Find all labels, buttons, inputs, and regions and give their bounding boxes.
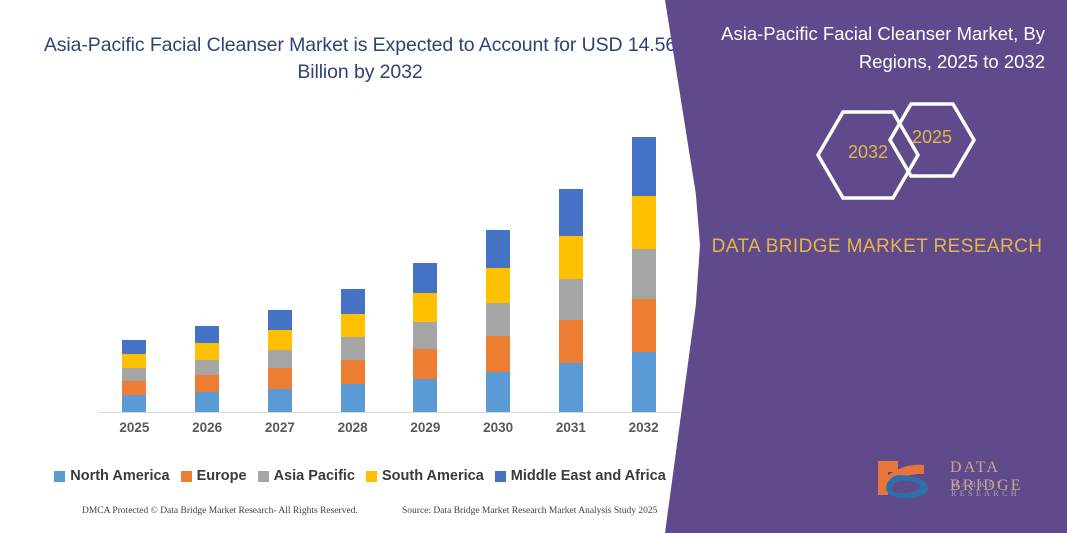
data-bridge-logo: DATA BRIDGE MARKET RESEARCH bbox=[872, 455, 1062, 503]
bar-stack[interactable] bbox=[122, 340, 146, 413]
legend-swatch bbox=[258, 471, 269, 482]
chart-plot-area bbox=[98, 112, 680, 413]
bar-segment[interactable] bbox=[559, 363, 583, 413]
brand-panel: Asia-Pacific Facial Cleanser Market, By … bbox=[660, 0, 1067, 533]
chart-panel: Asia-Pacific Facial Cleanser Market is E… bbox=[0, 0, 720, 533]
bar-segment[interactable] bbox=[195, 375, 219, 392]
bar-segment[interactable] bbox=[341, 384, 365, 413]
brand-content: Asia-Pacific Facial Cleanser Market, By … bbox=[660, 0, 1067, 533]
legend-swatch bbox=[54, 471, 65, 482]
infographic-page: Asia-Pacific Facial Cleanser Market is E… bbox=[0, 0, 1067, 533]
brand-name: DATA BRIDGE MARKET RESEARCH bbox=[707, 232, 1047, 262]
bar-segment[interactable] bbox=[559, 279, 583, 320]
hexagon-label-2025: 2025 bbox=[892, 127, 972, 148]
legend-label: Europe bbox=[197, 468, 247, 484]
legend-item[interactable]: North America bbox=[54, 468, 169, 484]
bar-stack[interactable] bbox=[341, 289, 365, 413]
bar-stack[interactable] bbox=[559, 189, 583, 413]
x-axis-label: 2029 bbox=[390, 420, 460, 435]
bar-segment[interactable] bbox=[486, 372, 510, 413]
x-axis-label: 2031 bbox=[536, 420, 606, 435]
bar-segment[interactable] bbox=[632, 352, 656, 413]
legend-item[interactable]: Asia Pacific bbox=[258, 468, 355, 484]
bar-segment[interactable] bbox=[486, 336, 510, 372]
bar-stack[interactable] bbox=[486, 230, 510, 413]
bar-segment[interactable] bbox=[122, 395, 146, 413]
bar-segment[interactable] bbox=[486, 230, 510, 268]
bar-stack[interactable] bbox=[632, 137, 656, 413]
legend-swatch bbox=[181, 471, 192, 482]
bar-segment[interactable] bbox=[559, 189, 583, 236]
brand-title: Asia-Pacific Facial Cleanser Market, By … bbox=[715, 20, 1045, 76]
bar-segment[interactable] bbox=[268, 368, 292, 389]
hexagon-graphic: 2032 2025 bbox=[810, 98, 1010, 213]
legend-swatch bbox=[366, 471, 377, 482]
bar-stack[interactable] bbox=[268, 310, 292, 413]
footer-source: Source: Data Bridge Market Research Mark… bbox=[402, 506, 657, 516]
chart-legend: North AmericaEuropeAsia PacificSouth Ame… bbox=[0, 468, 720, 484]
legend-item[interactable]: South America bbox=[366, 468, 484, 484]
bar-segment[interactable] bbox=[195, 360, 219, 376]
x-axis-label: 2027 bbox=[245, 420, 315, 435]
db-monogram-icon bbox=[872, 455, 944, 501]
bar-segment[interactable] bbox=[632, 249, 656, 299]
legend-label: Asia Pacific bbox=[274, 468, 355, 484]
x-axis-label: 2028 bbox=[318, 420, 388, 435]
legend-swatch bbox=[495, 471, 506, 482]
bar-segment[interactable] bbox=[268, 389, 292, 413]
bar-segment[interactable] bbox=[122, 340, 146, 354]
bar-segment[interactable] bbox=[341, 337, 365, 360]
page-title: Asia-Pacific Facial Cleanser Market is E… bbox=[40, 32, 680, 86]
footer-copyright: DMCA Protected © Data Bridge Market Rese… bbox=[82, 506, 358, 516]
bar-segment[interactable] bbox=[413, 322, 437, 349]
legend-label: North America bbox=[70, 468, 169, 484]
logo-text-sub: MARKET RESEARCH bbox=[951, 480, 1062, 498]
bar-segment[interactable] bbox=[341, 314, 365, 338]
x-axis-label: 2030 bbox=[463, 420, 533, 435]
bar-segment[interactable] bbox=[486, 303, 510, 336]
bar-segment[interactable] bbox=[559, 320, 583, 363]
bar-segment[interactable] bbox=[122, 368, 146, 381]
bar-segment[interactable] bbox=[486, 268, 510, 303]
bar-stack[interactable] bbox=[413, 263, 437, 413]
legend-item[interactable]: Europe bbox=[181, 468, 247, 484]
bar-segment[interactable] bbox=[413, 349, 437, 378]
bar-segment[interactable] bbox=[413, 263, 437, 294]
legend-label: South America bbox=[382, 468, 484, 484]
x-axis-line bbox=[98, 412, 680, 413]
bar-segment[interactable] bbox=[341, 289, 365, 314]
bar-segment[interactable] bbox=[268, 310, 292, 331]
bar-segment[interactable] bbox=[122, 354, 146, 368]
bar-segment[interactable] bbox=[122, 381, 146, 396]
bar-segment[interactable] bbox=[632, 196, 656, 249]
bar-segment[interactable] bbox=[559, 236, 583, 279]
bar-segment[interactable] bbox=[195, 343, 219, 359]
x-axis-label: 2026 bbox=[172, 420, 242, 435]
bar-segment[interactable] bbox=[413, 379, 437, 413]
x-axis-labels: 20252026202720282029203020312032 bbox=[98, 420, 680, 444]
bar-segment[interactable] bbox=[341, 360, 365, 384]
bar-segment[interactable] bbox=[413, 293, 437, 322]
bar-segment[interactable] bbox=[632, 299, 656, 352]
legend-item[interactable]: Middle East and Africa bbox=[495, 468, 666, 484]
bar-segment[interactable] bbox=[195, 392, 219, 413]
x-axis-label: 2025 bbox=[99, 420, 169, 435]
bar-segment[interactable] bbox=[195, 326, 219, 343]
legend-label: Middle East and Africa bbox=[511, 468, 666, 484]
bar-stack[interactable] bbox=[195, 326, 219, 413]
bar-segment[interactable] bbox=[268, 350, 292, 369]
bar-segment[interactable] bbox=[632, 137, 656, 196]
bar-segment[interactable] bbox=[268, 330, 292, 349]
